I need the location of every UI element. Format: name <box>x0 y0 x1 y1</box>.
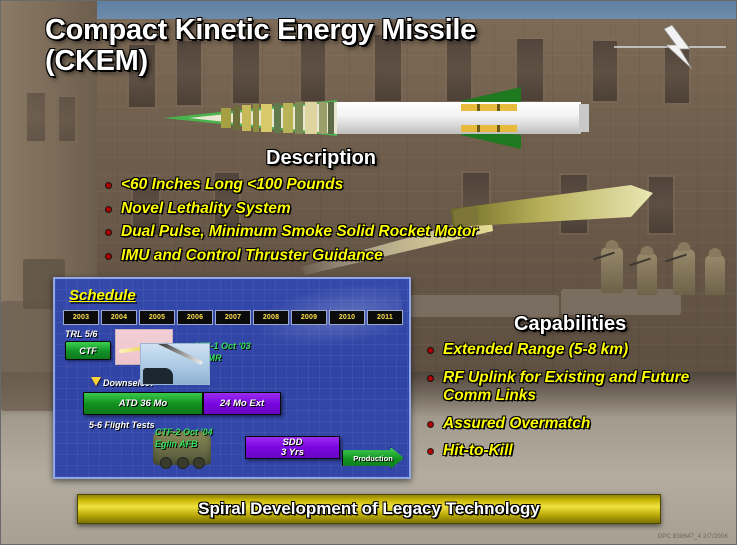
wheel <box>177 457 189 469</box>
description-bullet: Dual Pulse, Minimum Smoke Solid Rocket M… <box>104 223 624 242</box>
document-control-number: DPC 838647_4 2/7/2006 <box>658 534 728 540</box>
missile-silhouette <box>155 343 203 365</box>
year-cell: 2007 <box>215 310 251 325</box>
year-cell: 2008 <box>253 310 289 325</box>
capabilities-heading: Capabilities <box>514 313 626 336</box>
page-title-line-2: (CKEM) <box>45 46 585 77</box>
year-cell: 2005 <box>139 310 175 325</box>
summary-banner: Spiral Development of Legacy Technology <box>77 494 661 524</box>
trl-label: TRL 5/6 <box>65 329 97 339</box>
launcher-silhouette <box>143 368 173 384</box>
capabilities-bullet: RF Uplink for Existing and Future Comm L… <box>426 369 726 406</box>
year-cell: 2004 <box>101 310 137 325</box>
wheel <box>160 457 172 469</box>
presentation-slide: Compact Kinetic Energy Missile (CKEM) <box>0 0 737 545</box>
downselect-marker-icon <box>91 377 101 386</box>
schedule-title: Schedule <box>69 287 136 304</box>
ctf2-site-label: Eglin AFB <box>155 439 198 449</box>
description-bullet: Novel Lethality System <box>104 200 624 219</box>
ctf-milestone-button[interactable]: CTF <box>65 341 111 360</box>
schedule-year-axis: 2003 2004 2005 2006 2007 2008 2009 2010 … <box>63 310 403 325</box>
wall-window <box>59 97 75 141</box>
year-cell: 2006 <box>177 310 213 325</box>
schedule-panel: Schedule 2003 2004 2005 2006 2007 2008 2… <box>53 277 411 479</box>
wheel <box>193 457 205 469</box>
page-title-line-1: Compact Kinetic Energy Missile <box>45 15 585 46</box>
year-cell: 2011 <box>367 310 403 325</box>
wall-window <box>27 93 45 141</box>
schedule-bar-production[interactable]: Production <box>342 447 404 469</box>
description-bullet: IMU and Control Thruster Guidance <box>104 247 624 266</box>
capabilities-bullet-list: Extended Range (5-8 km) RF Uplink for Ex… <box>426 341 726 470</box>
summary-banner-text: Spiral Development of Legacy Technology <box>198 499 540 519</box>
sdd-label-line-1: SDD <box>282 438 302 448</box>
schedule-bar-sdd[interactable]: SDD 3 Yrs <box>245 436 340 459</box>
soldier-figure <box>705 255 725 295</box>
missile-cutaway-graphic <box>161 85 613 151</box>
capabilities-bullet: Hit-to-Kill <box>426 442 726 461</box>
description-heading: Description <box>266 147 376 170</box>
page-title: Compact Kinetic Energy Missile (CKEM) <box>45 15 585 78</box>
schedule-bar-24mo-ext[interactable]: 24 Mo Ext <box>203 392 281 415</box>
sdd-label-line-2: 3 Yrs <box>281 448 304 458</box>
flight-tests-label: 5-6 Flight Tests <box>89 420 155 430</box>
year-cell: 2003 <box>63 310 99 325</box>
launch-photo-thumbnail <box>140 343 210 385</box>
description-bullet-list: <60 Inches Long <100 Pounds Novel Lethal… <box>104 176 624 270</box>
description-bullet: <60 Inches Long <100 Pounds <box>104 176 624 195</box>
year-cell: 2009 <box>291 310 327 325</box>
lockheed-martin-star-logo <box>614 17 726 75</box>
year-cell: 2010 <box>329 310 365 325</box>
helmet <box>709 248 722 257</box>
schedule-bar-atd[interactable]: ATD 36 Mo <box>83 392 203 415</box>
capabilities-bullet: Assured Overmatch <box>426 415 726 434</box>
capabilities-bullet: Extended Range (5-8 km) <box>426 341 726 360</box>
ctf2-label: CTF-2 Oct '04 <box>155 427 213 437</box>
